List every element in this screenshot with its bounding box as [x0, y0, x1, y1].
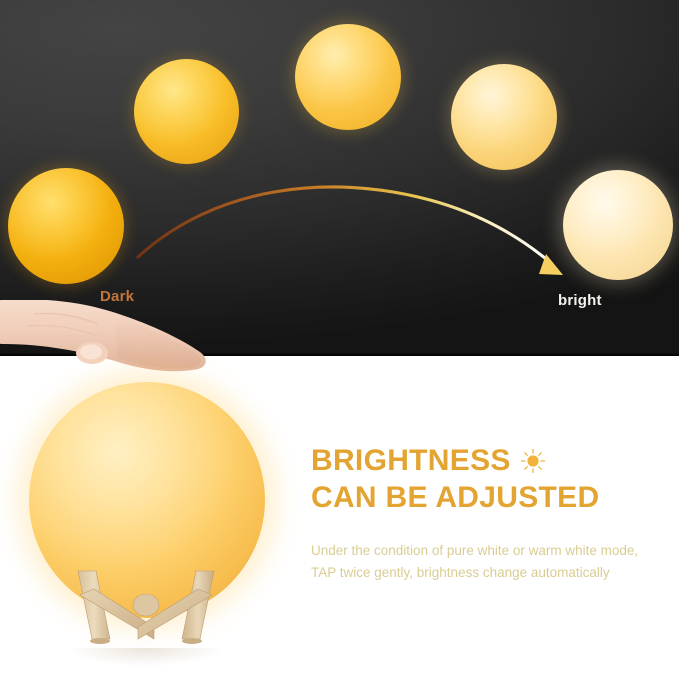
- sun-icon: [520, 448, 546, 474]
- moon-sheen: [295, 24, 401, 130]
- label-bright: bright: [558, 292, 602, 309]
- wooden-stand: [62, 565, 230, 651]
- moon-sheen: [134, 59, 239, 164]
- moon-sheen: [563, 170, 673, 280]
- body-copy: Under the condition of pure white or war…: [311, 540, 663, 584]
- headline-line-1: BRIGHTNESS: [311, 443, 663, 480]
- body-line-1: Under the condition of pure white or war…: [311, 540, 663, 562]
- moon-sheen: [8, 168, 124, 284]
- moon-step-1: [8, 168, 124, 284]
- lamp-reflection: [70, 648, 222, 666]
- arrowhead-icon: [539, 254, 563, 275]
- moon-step-4: [451, 64, 557, 170]
- headline-line-2: CAN BE ADJUSTED: [311, 480, 663, 517]
- moon-step-3: [295, 24, 401, 130]
- hand-tapping-lamp: [0, 300, 244, 380]
- product-marketing-image: Dark bright: [0, 0, 679, 679]
- moon-step-2: [134, 59, 239, 164]
- moon-sheen: [451, 64, 557, 170]
- body-line-2: TAP twice gently, brightness change auto…: [311, 562, 663, 584]
- headline-text-1: BRIGHTNESS: [311, 443, 511, 480]
- copy-block: BRIGHTNESS CAN BE ADJU: [311, 443, 663, 584]
- moon-step-5: [563, 170, 673, 280]
